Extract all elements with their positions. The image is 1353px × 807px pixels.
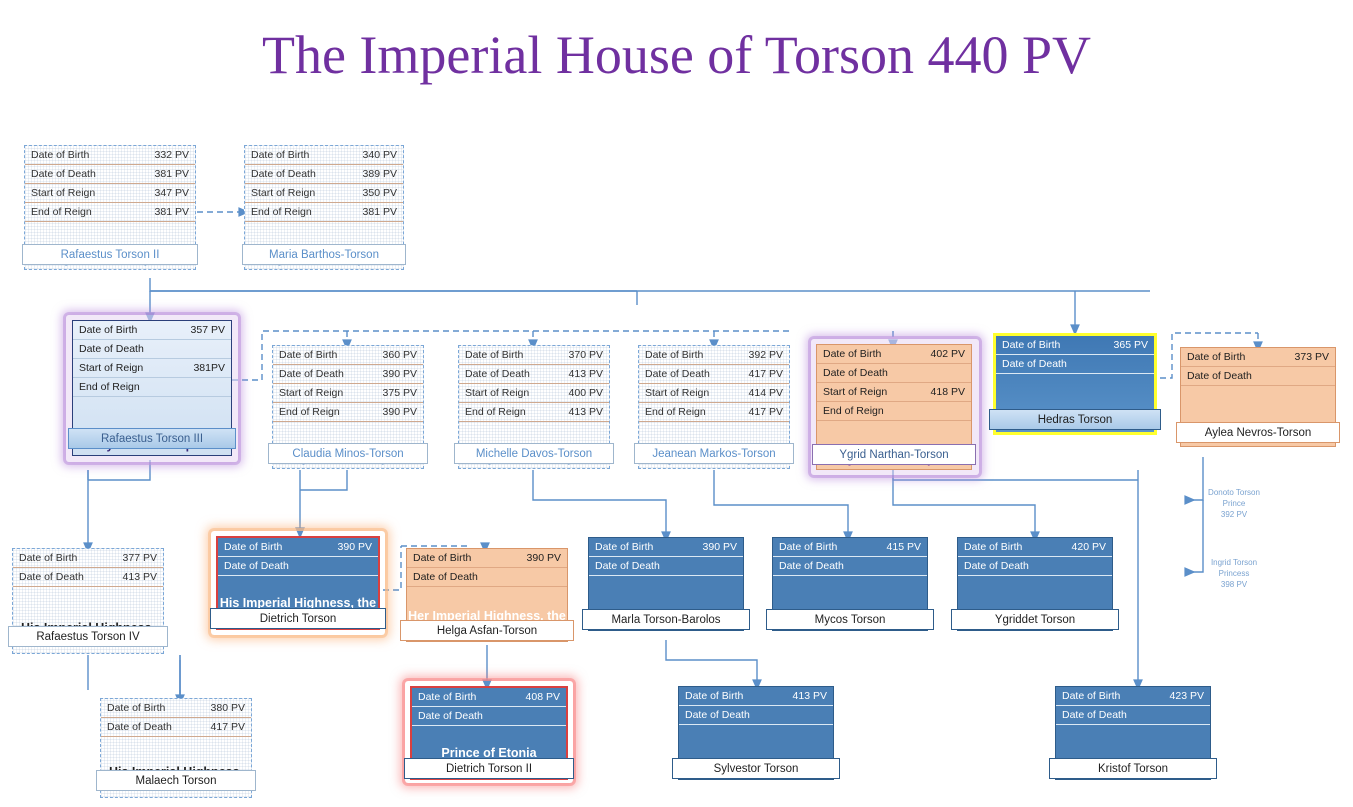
person-card-maria-barthos-torson[interactable]: Date of Birth340 PV Date of Death389 PV … [244,145,404,270]
person-name[interactable]: Rafaestus Torson IV [8,626,168,647]
field-date-of-birth: Date of Birth340 PV [245,146,403,165]
field-date-of-death: Date of Death [1181,367,1335,386]
person-card-dietrich-torson-ii[interactable]: Date of Birth408 PV Date of Death Prince… [410,686,568,780]
field-date-of-birth: Date of Birth373 PV [1181,348,1335,367]
field-end-of-reign: End of Reign390 PV [273,403,423,422]
person-name[interactable]: Aylea Nevros-Torson [1176,422,1340,443]
person-name[interactable]: Ygrid Narthan-Torson [812,444,976,465]
field-date-of-birth: Date of Birth390 PV [589,538,743,557]
text-node-name: Ingrid Torson [1196,557,1272,568]
person-card-mycos-torson[interactable]: Date of Birth415 PV Date of Death Prince… [772,537,928,631]
field-end-of-reign: End of Reign381 PV [25,203,195,222]
field-date-of-death: Date of Death [1056,706,1210,725]
person-card-kristof-torson[interactable]: Date of Birth423 PV Date of Death Prince… [1055,686,1211,780]
person-card-ygriddet-torson[interactable]: Date of Birth420 PV Date of Death Prince… [957,537,1113,631]
person-card-ygrid-narthan-torson[interactable]: Date of Birth402 PV Date of Death Start … [816,344,972,470]
text-node-year: 398 PV [1196,579,1272,590]
field-date-of-death: Date of Death390 PV [273,365,423,384]
field-date-of-death: Date of Death413 PV [459,365,609,384]
person-name[interactable]: Rafaestus Torson III [68,428,236,449]
field-date-of-death: Date of Death417 PV [639,365,789,384]
person-card-jeanean-markos-torson[interactable]: Date of Birth392 PV Date of Death417 PV … [638,345,790,469]
person-name[interactable]: Claudia Minos-Torson [268,443,428,464]
field-date-of-birth: Date of Birth390 PV [407,549,567,568]
person-name[interactable]: Malaech Torson [96,770,256,791]
field-date-of-death: Date of Death [73,340,231,359]
field-date-of-birth: Date of Birth423 PV [1056,687,1210,706]
text-node-donoto-torson[interactable]: Donoto Torson Prince 392 PV [1196,487,1272,520]
text-node-year: 392 PV [1196,509,1272,520]
field-date-of-death: Date of Death [412,707,566,726]
field-date-of-death: Date of Death [817,364,971,383]
person-name[interactable]: Jeanean Markos-Torson [634,443,794,464]
field-date-of-birth: Date of Birth392 PV [639,346,789,365]
field-date-of-birth: Date of Birth377 PV [13,549,163,568]
person-name[interactable]: Marla Torson-Barolos [582,609,750,630]
field-date-of-birth: Date of Birth408 PV [412,688,566,707]
field-date-of-birth: Date of Birth415 PV [773,538,927,557]
person-card-rafaestus-torson-ii[interactable]: Date of Birth332 PV Date of Death381 PV … [24,145,196,270]
field-start-of-reign: Start of Reign350 PV [245,184,403,203]
person-card-hedras-torson[interactable]: Date of Birth365 PV Date of Death Grand … [993,333,1157,435]
text-node-name: Donoto Torson [1196,487,1272,498]
person-card-michelle-davos-torson[interactable]: Date of Birth370 PV Date of Death413 PV … [458,345,610,469]
person-name[interactable]: Rafaestus Torson II [22,244,198,265]
field-end-of-reign: End of Reign381 PV [245,203,403,222]
text-node-rank: Prince [1196,498,1272,509]
person-card-claudia-minos-torson[interactable]: Date of Birth360 PV Date of Death390 PV … [272,345,424,469]
person-name[interactable]: Hedras Torson [989,409,1161,430]
field-end-of-reign: End of Reign417 PV [639,403,789,422]
field-date-of-death: Date of Death413 PV [13,568,163,587]
text-node-ingrid-torson[interactable]: Ingrid Torson Princess 398 PV [1196,557,1272,590]
field-start-of-reign: Start of Reign418 PV [817,383,971,402]
field-start-of-reign: Start of Reign347 PV [25,184,195,203]
person-name[interactable]: Maria Barthos-Torson [242,244,406,265]
field-date-of-death: Date of Death [407,568,567,587]
person-name[interactable]: Michelle Davos-Torson [454,443,614,464]
field-start-of-reign: Start of Reign381PV [73,359,231,378]
person-card-sylvestor-torson[interactable]: Date of Birth413 PV Date of Death Prince… [678,686,834,780]
field-start-of-reign: Start of Reign414 PV [639,384,789,403]
field-date-of-death: Date of Death381 PV [25,165,195,184]
field-date-of-birth: Date of Birth365 PV [996,336,1154,355]
field-date-of-birth: Date of Birth332 PV [25,146,195,165]
field-date-of-birth: Date of Birth360 PV [273,346,423,365]
field-date-of-birth: Date of Birth380 PV [101,699,251,718]
person-name[interactable]: Kristof Torson [1049,758,1217,779]
person-card-rafaestus-torson-iii[interactable]: Date of Birth357 PV Date of Death Start … [72,320,232,456]
text-node-rank: Princess [1196,568,1272,579]
person-name[interactable]: Ygriddet Torson [951,609,1119,630]
person-name[interactable]: Dietrich Torson [210,608,386,629]
field-start-of-reign: Start of Reign400 PV [459,384,609,403]
person-card-aylea-nevros-torson[interactable]: Date of Birth373 PV Date of Death Grand … [1180,347,1336,447]
field-date-of-death: Date of Death [996,355,1154,374]
field-end-of-reign: End of Reign413 PV [459,403,609,422]
person-name[interactable]: Dietrich Torson II [404,758,574,779]
person-name[interactable]: Helga Asfan-Torson [400,620,574,641]
field-date-of-death: Date of Death [218,557,378,576]
field-date-of-death: Date of Death [773,557,927,576]
field-date-of-death: Date of Death417 PV [101,718,251,737]
field-date-of-death: Date of Death [958,557,1112,576]
person-card-helga-asfan-torson[interactable]: Date of Birth390 PV Date of Death Her Im… [406,548,568,642]
field-end-of-reign: End of Reign [73,378,231,397]
person-card-marla-torson-barolos[interactable]: Date of Birth390 PV Date of Death Prince… [588,537,744,631]
field-date-of-birth: Date of Birth357 PV [73,321,231,340]
field-date-of-death: Date of Death389 PV [245,165,403,184]
field-date-of-birth: Date of Birth390 PV [218,538,378,557]
field-date-of-death: Date of Death [679,706,833,725]
field-date-of-birth: Date of Birth402 PV [817,345,971,364]
field-date-of-birth: Date of Birth420 PV [958,538,1112,557]
field-date-of-birth: Date of Birth413 PV [679,687,833,706]
field-date-of-birth: Date of Birth370 PV [459,346,609,365]
person-card-rafaestus-torson-iv[interactable]: Date of Birth377 PV Date of Death413 PV … [12,548,164,654]
field-end-of-reign: End of Reign [817,402,971,421]
person-card-dietrich-torson[interactable]: Date of Birth390 PV Date of Death His Im… [216,536,380,630]
person-name[interactable]: Mycos Torson [766,609,934,630]
person-name[interactable]: Sylvestor Torson [672,758,840,779]
field-date-of-death: Date of Death [589,557,743,576]
field-start-of-reign: Start of Reign375 PV [273,384,423,403]
person-card-malaech-torson[interactable]: Date of Birth380 PV Date of Death417 PV … [100,698,252,798]
